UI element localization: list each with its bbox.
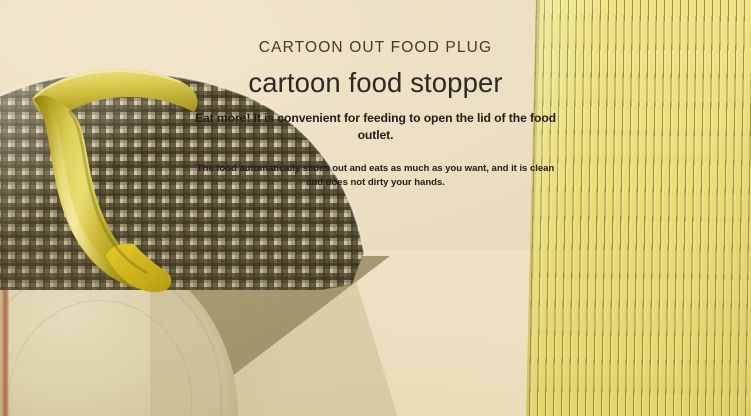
page-title: cartoon food stopper: [0, 69, 751, 97]
marketing-text-block: CARTOON OUT FOOD PLUG cartoon food stopp…: [0, 40, 751, 191]
description-text: The food automatically slides out and ea…: [190, 162, 562, 191]
product-photo-scene: CARTOON OUT FOOD PLUG cartoon food stopp…: [0, 0, 751, 416]
eyebrow-label: CARTOON OUT FOOD PLUG: [0, 40, 751, 56]
subheading: Eat more! It is convenient for feeding t…: [186, 110, 566, 145]
